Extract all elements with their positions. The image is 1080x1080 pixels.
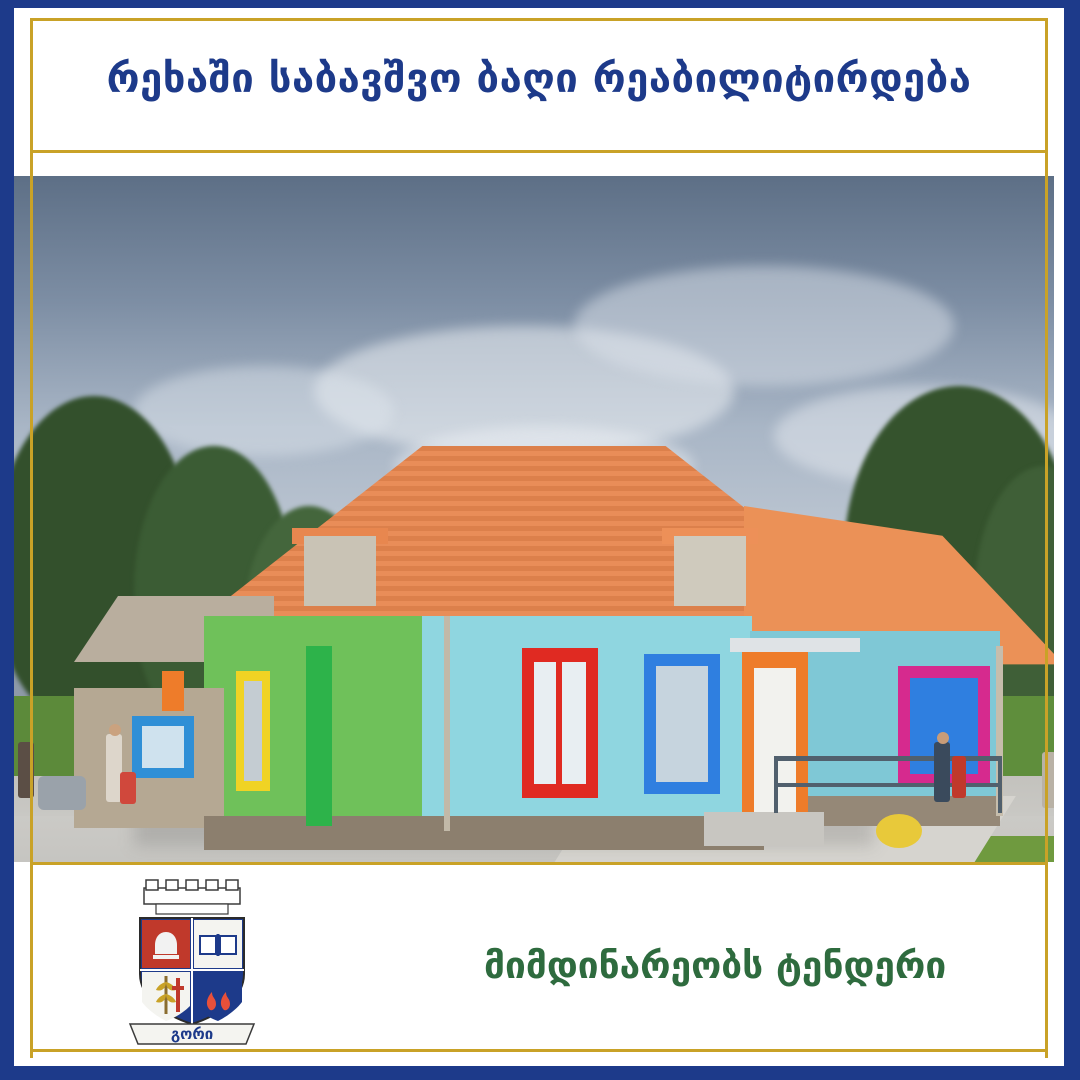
gold-line-right: [1045, 18, 1048, 1058]
gold-line-top: [30, 18, 1048, 21]
footer-title: მიმდინარეობს ტენდერი: [484, 944, 946, 987]
downpipe: [444, 616, 450, 831]
person: [1042, 752, 1054, 808]
entrance-steps: [704, 812, 824, 846]
gold-divider-top: [30, 150, 1048, 153]
header-title: რეხაში საბავშვო ბაღი რეაბილიტირდება: [107, 56, 972, 102]
header-banner: რეხაში საბავშვო ბაღი რეაბილიტირდება: [14, 8, 1064, 150]
frame-border-bottom: [0, 1066, 1080, 1080]
child: [120, 772, 136, 804]
gold-divider-bottom: [30, 862, 1048, 865]
plinth: [204, 816, 764, 850]
person-head: [109, 724, 121, 736]
child: [952, 756, 966, 798]
wall-accent-green: [306, 646, 332, 826]
entrance-canopy: [730, 638, 860, 652]
stroller: [38, 776, 86, 810]
window-red: [522, 648, 598, 798]
crest-motto-text: გორი: [171, 1025, 213, 1043]
person-head: [937, 732, 949, 744]
frame-border-right: [1064, 0, 1080, 1080]
dormer: [304, 536, 376, 606]
window-blue: [644, 654, 720, 794]
person: [934, 742, 950, 802]
frame-border-left: [0, 0, 14, 1080]
dormer: [674, 536, 746, 606]
footer-banner: გორი მიმდინარეობს ტენდერი: [14, 866, 1064, 1066]
gori-coat-of-arms-icon: გორი: [122, 878, 262, 1048]
frame-border-top: [0, 0, 1080, 8]
window-blue-annex: [132, 716, 194, 778]
window-yellow: [236, 671, 270, 791]
building-rendering-image: [14, 176, 1054, 862]
gold-line-left: [30, 18, 33, 1058]
gold-line-bottom: [30, 1049, 1048, 1052]
yellow-bush: [876, 814, 922, 848]
window-orange-annex: [162, 671, 184, 711]
ramp-railing: [774, 756, 1002, 813]
poster: რეხაში საბავშვო ბაღი რეაბილიტირდება: [0, 0, 1080, 1080]
